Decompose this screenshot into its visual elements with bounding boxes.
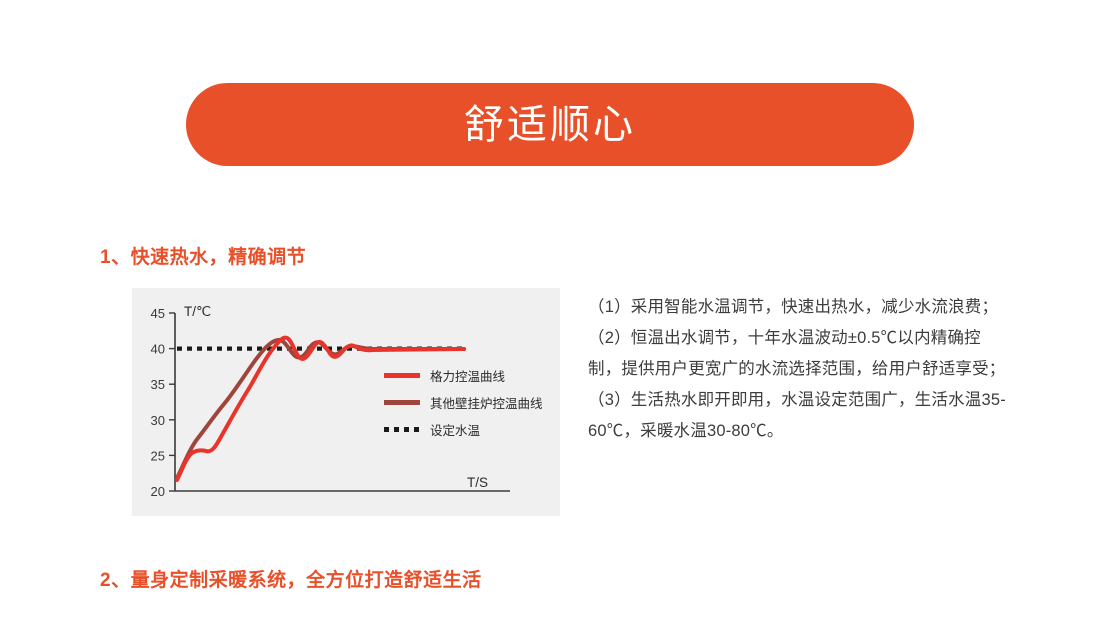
description-paragraph-2: （2）恒温出水调节，十年水温波动±0.5℃以内精确控制，提供用户更宽广的水流选择… bbox=[588, 323, 1008, 385]
section-heading-1: 1、快速热水，精确调节 bbox=[100, 242, 306, 269]
legend-swatch-gree bbox=[384, 373, 420, 378]
slide-page: 舒适顺心 1、快速热水，精确调节 20 bbox=[0, 0, 1100, 644]
legend-item-other: 其他壁挂炉控温曲线 bbox=[384, 391, 554, 413]
svg-text:35: 35 bbox=[151, 377, 165, 392]
page-title-banner: 舒适顺心 bbox=[186, 83, 914, 166]
legend-item-gree: 格力控温曲线 bbox=[384, 364, 554, 386]
y-ticks bbox=[169, 313, 175, 491]
chart-legend: 格力控温曲线 其他壁挂炉控温曲线 设定水温 bbox=[384, 364, 554, 445]
legend-label-other: 其他壁挂炉控温曲线 bbox=[430, 393, 543, 412]
page-title: 舒适顺心 bbox=[464, 105, 636, 145]
section-heading-2: 2、量身定制采暖系统，全方位打造舒适生活 bbox=[100, 565, 482, 592]
feature-description: （1）采用智能水温调节，快速出热水，减少水流浪费； （2）恒温出水调节，十年水温… bbox=[588, 292, 1008, 447]
description-paragraph-3: （3）生活热水即开即用，水温设定范围广，生活水温35-60℃，采暖水温30-80… bbox=[588, 385, 1008, 447]
legend-label-setpoint: 设定水温 bbox=[430, 420, 480, 439]
legend-swatch-setpoint bbox=[384, 427, 420, 432]
y-axis-label: T/℃ bbox=[184, 304, 211, 319]
y-tick-labels: 20 25 30 35 40 45 bbox=[151, 306, 165, 499]
legend-item-setpoint: 设定水温 bbox=[384, 418, 554, 440]
chart-panel: 20 25 30 35 40 45 T/℃ T/S bbox=[132, 288, 560, 516]
description-paragraph-1: （1）采用智能水温调节，快速出热水，减少水流浪费； bbox=[588, 292, 1008, 323]
svg-text:30: 30 bbox=[151, 413, 165, 428]
svg-text:40: 40 bbox=[151, 342, 165, 357]
legend-swatch-other bbox=[384, 400, 420, 405]
svg-text:20: 20 bbox=[151, 484, 165, 499]
svg-text:25: 25 bbox=[151, 448, 165, 463]
svg-text:45: 45 bbox=[151, 306, 165, 321]
legend-label-gree: 格力控温曲线 bbox=[430, 366, 505, 385]
x-axis-label: T/S bbox=[467, 475, 488, 490]
